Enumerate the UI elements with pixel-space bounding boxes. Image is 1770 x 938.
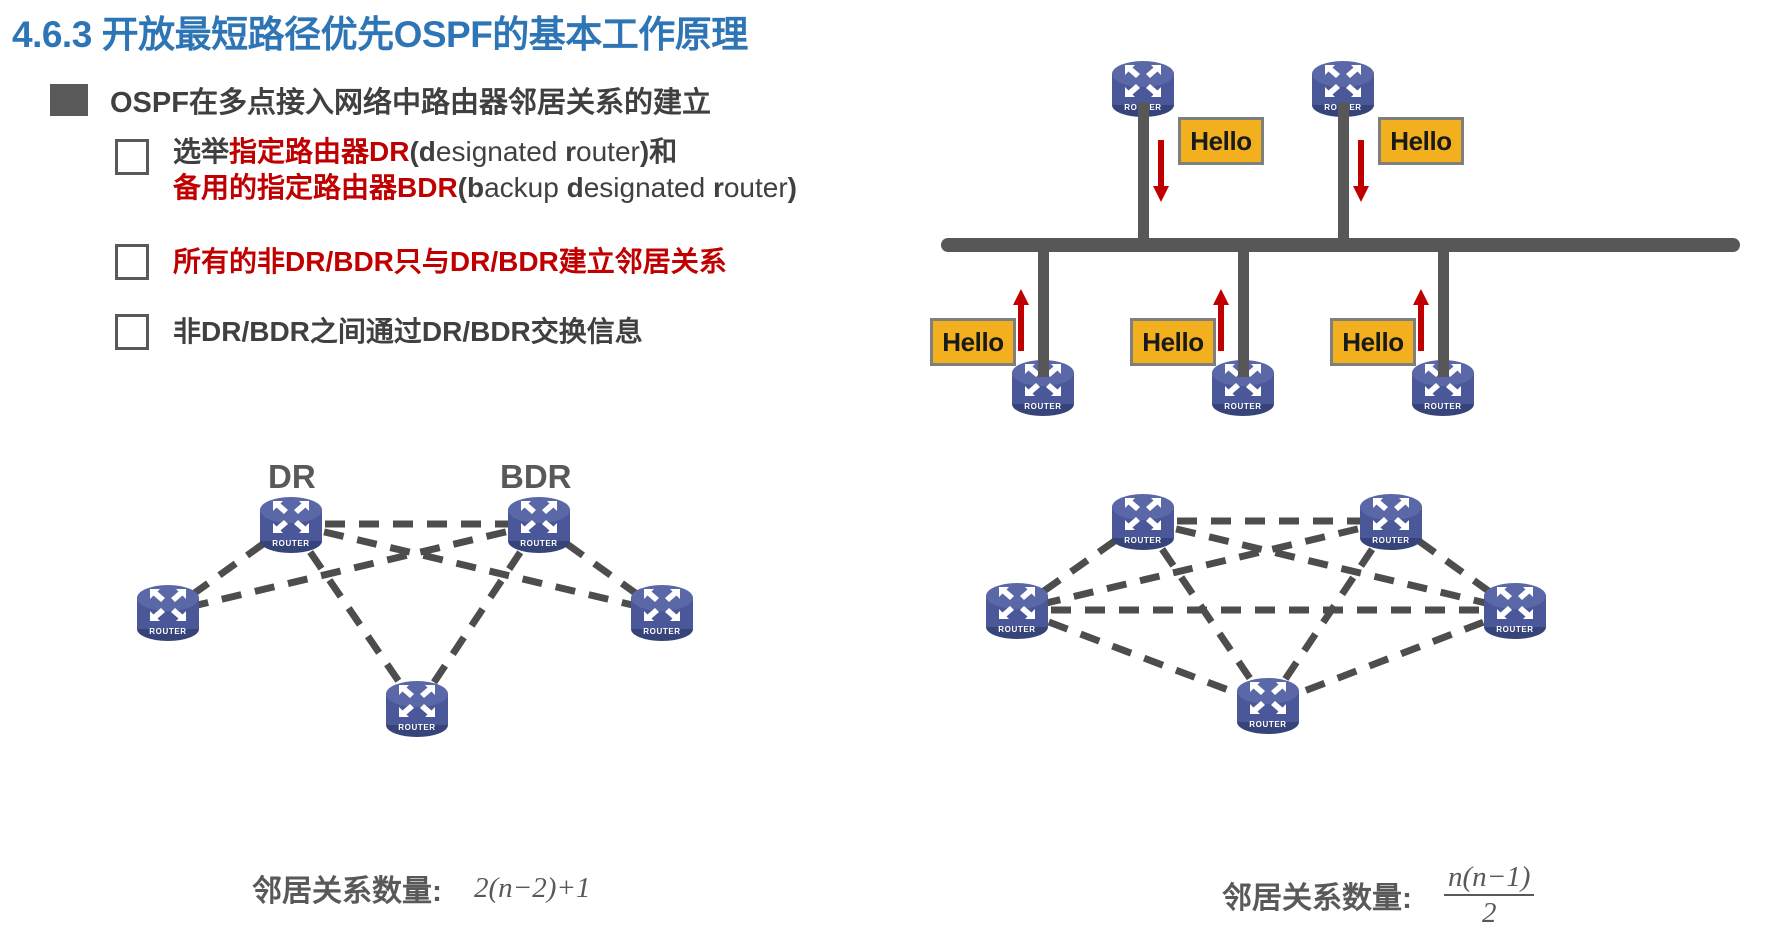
dr-topology-caption: 邻居关系数量: 2(n−2)+1 [252, 866, 590, 910]
svg-text:ROUTER: ROUTER [643, 627, 680, 636]
mesh-topology-router-r[interactable]: ROUTER [1477, 579, 1553, 641]
caption-label: 邻居关系数量: [1222, 873, 1412, 917]
slide-root: 4.6.3 开放最短路径优先OSPF的基本工作原理 OSPF在多点接入网络中路由… [0, 0, 1770, 933]
fraction-denominator: 2 [1482, 898, 1497, 928]
fraction-numerator: n(n−1) [1444, 862, 1534, 892]
caption-formula: 2(n−2)+1 [474, 872, 590, 905]
hello-packet-label: Hello [930, 318, 1016, 366]
adjacency-link [291, 524, 662, 612]
multi-access-hello-diagram: ROUTER Hello ROUTER Hello [0, 0, 1770, 460]
router-icon: ROUTER [1353, 490, 1429, 552]
router-icon: ROUTER [979, 579, 1055, 641]
bus-stub-line [1438, 248, 1449, 377]
router-icon: ROUTER [501, 493, 577, 555]
dr-topology-router-right[interactable]: ROUTER [624, 581, 700, 643]
arrow-down-icon [1352, 140, 1370, 207]
hello-packet-label: Hello [1130, 318, 1216, 366]
dr-topology-router-bdr[interactable]: ROUTER [501, 493, 577, 555]
svg-text:ROUTER: ROUTER [1024, 402, 1061, 411]
arrow-down-icon [1152, 140, 1170, 207]
router-icon: ROUTER [1105, 490, 1181, 552]
bus-stub-line [1338, 102, 1349, 242]
router-icon: ROUTER [1477, 579, 1553, 641]
dr-topology-router-bottom[interactable]: ROUTER [379, 677, 455, 739]
hello-packet-label: Hello [1378, 117, 1464, 165]
caption-formula-fraction: n(n−1) 2 [1444, 862, 1534, 929]
mesh-topology-caption: 邻居关系数量: n(n−1) 2 [1222, 862, 1534, 929]
router-icon: ROUTER [624, 581, 700, 643]
adjacency-link [1143, 521, 1515, 610]
svg-text:ROUTER: ROUTER [1224, 402, 1261, 411]
svg-text:ROUTER: ROUTER [398, 723, 435, 732]
arrow-up-icon [1212, 289, 1230, 356]
svg-text:ROUTER: ROUTER [1124, 536, 1161, 545]
bus-stub-line [1238, 248, 1249, 377]
svg-text:ROUTER: ROUTER [1496, 625, 1533, 634]
node-role-label: DR [268, 458, 316, 496]
dr-topology-router-dr[interactable]: ROUTER [253, 493, 329, 555]
adjacency-link [168, 524, 539, 612]
router-icon: ROUTER [1230, 674, 1306, 736]
fraction-bar [1444, 894, 1534, 896]
hello-packet-label: Hello [1178, 117, 1264, 165]
svg-text:ROUTER: ROUTER [272, 539, 309, 548]
router-icon: ROUTER [130, 581, 206, 643]
mesh-topology-router-tr[interactable]: ROUTER [1353, 490, 1429, 552]
mesh-topology-router-b[interactable]: ROUTER [1230, 674, 1306, 736]
router-icon: ROUTER [253, 493, 329, 555]
svg-text:ROUTER: ROUTER [149, 627, 186, 636]
caption-label: 邻居关系数量: [252, 866, 442, 910]
svg-text:ROUTER: ROUTER [520, 539, 557, 548]
svg-text:ROUTER: ROUTER [1249, 720, 1286, 729]
arrow-up-icon [1412, 289, 1430, 356]
svg-text:ROUTER: ROUTER [1424, 402, 1461, 411]
dr-topology-router-left[interactable]: ROUTER [130, 581, 206, 643]
arrow-up-icon [1012, 289, 1030, 356]
router-icon: ROUTER [379, 677, 455, 739]
node-role-label: BDR [500, 458, 572, 496]
mesh-topology-router-l[interactable]: ROUTER [979, 579, 1055, 641]
bus-stub-line [1138, 102, 1149, 242]
mesh-topology-router-tl[interactable]: ROUTER [1105, 490, 1181, 552]
hello-packet-label: Hello [1330, 318, 1416, 366]
svg-text:ROUTER: ROUTER [998, 625, 1035, 634]
adjacency-link [1017, 521, 1391, 610]
bus-stub-line [1038, 248, 1049, 377]
svg-text:ROUTER: ROUTER [1372, 536, 1409, 545]
